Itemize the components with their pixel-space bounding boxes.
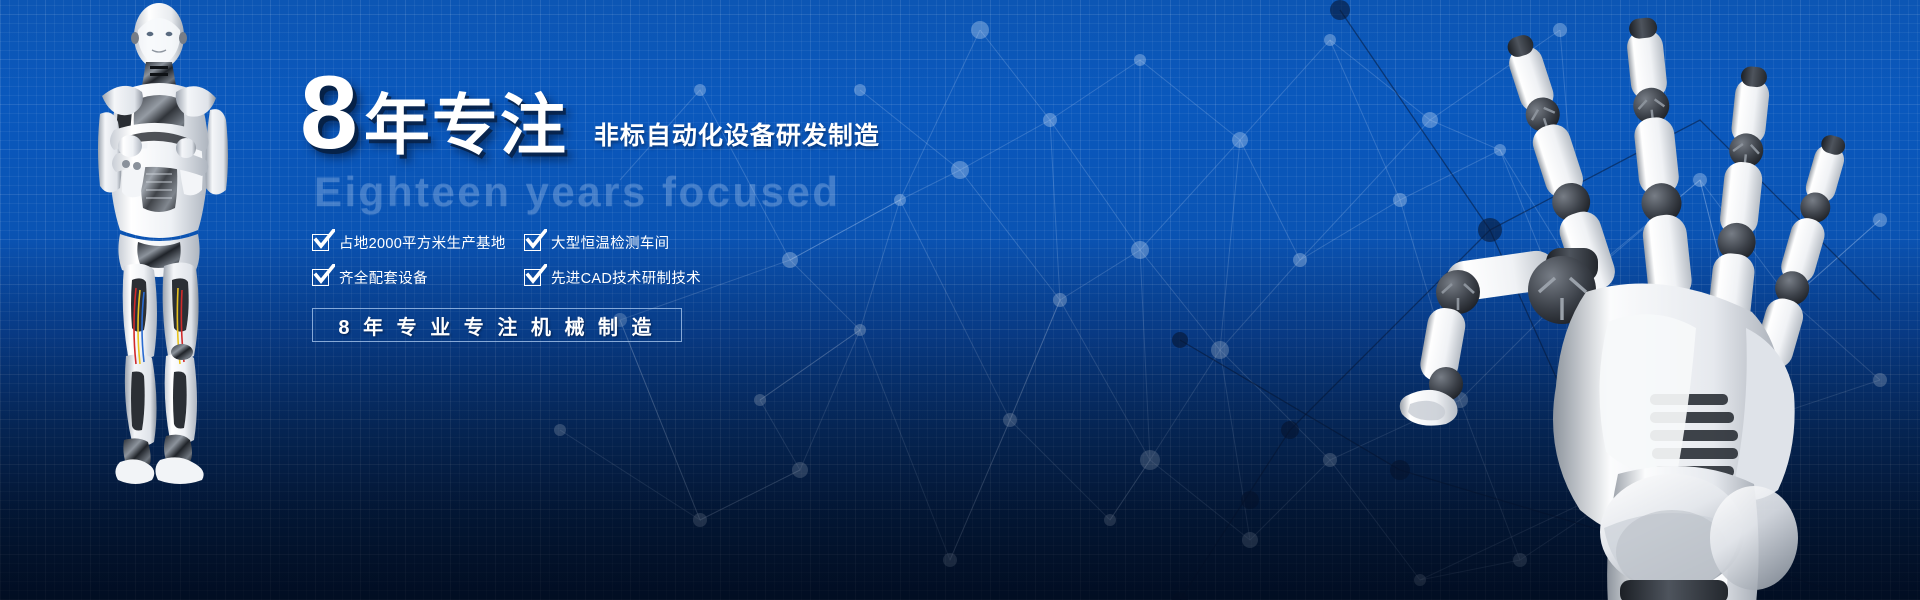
- banner-content: 8 年专注 非标自动化设备研发制造 Eighteen years focused…: [300, 72, 1060, 342]
- tagline-box: 8 年 专 业 专 注 机 械 制 造: [312, 308, 682, 342]
- humanoid-robot-graphic: [58, 0, 268, 600]
- feature-item: 先进CAD技术研制技术: [524, 267, 736, 288]
- feature-label: 先进CAD技术研制技术: [551, 267, 701, 288]
- hero-banner: 8 年专注 非标自动化设备研发制造 Eighteen years focused…: [0, 0, 1920, 600]
- headline-subtitle: 非标自动化设备研发制造: [594, 116, 880, 152]
- feature-label: 齐全配套设备: [339, 267, 428, 288]
- robotic-hand-graphic: [1350, 0, 1920, 600]
- headline-row: 8 年专注 非标自动化设备研发制造: [300, 72, 1060, 162]
- feature-list: 占地2000平方米生产基地 大型恒温检测车间 齐全配套设备: [312, 232, 782, 288]
- feature-label: 大型恒温检测车间: [551, 232, 669, 253]
- check-icon: [312, 269, 329, 286]
- headline-english: Eighteen years focused: [314, 168, 1060, 216]
- check-icon: [524, 269, 541, 286]
- headline-chinese: 年专注: [364, 92, 568, 158]
- check-icon: [312, 234, 329, 251]
- feature-item: 占地2000平方米生产基地: [312, 232, 524, 253]
- feature-item: 大型恒温检测车间: [524, 232, 736, 253]
- years-number: 8: [300, 66, 356, 162]
- feature-label: 占地2000平方米生产基地: [339, 232, 506, 253]
- feature-item: 齐全配套设备: [312, 267, 524, 288]
- tagline-text: 8 年 专 业 专 注 机 械 制 造: [338, 311, 655, 340]
- check-icon: [524, 234, 541, 251]
